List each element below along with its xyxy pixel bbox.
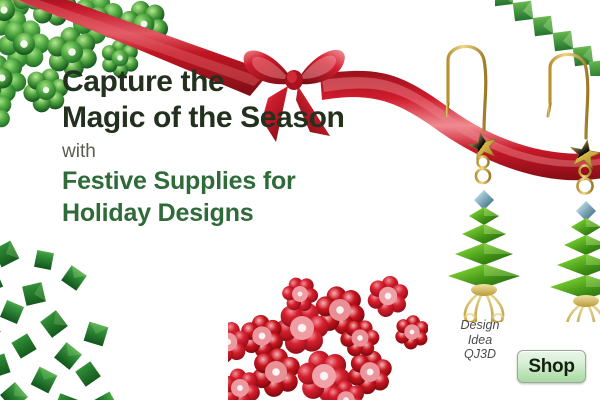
headline-line-1: Capture the — [62, 64, 344, 100]
design-credit-code: QJ3D — [440, 347, 520, 362]
headline-line-4: Holiday Designs — [62, 197, 344, 229]
design-credit-line-1: Design — [440, 318, 520, 333]
design-idea-credit: Design Idea QJ3D — [440, 318, 520, 362]
christmas-tree-crystal-earrings — [440, 42, 600, 322]
headline-connector: with — [62, 139, 344, 165]
shop-button-label: Shop — [528, 356, 574, 378]
headline-block: Capture the Magic of the Season with Fes… — [62, 64, 344, 229]
holiday-promo-banner: Capture the Magic of the Season with Fes… — [0, 0, 600, 400]
design-credit-line-2: Idea — [440, 333, 520, 348]
headline-line-2: Magic of the Season — [62, 100, 344, 136]
headline-line-3: Festive Supplies for — [62, 165, 344, 197]
shop-button[interactable]: Shop — [517, 350, 586, 383]
